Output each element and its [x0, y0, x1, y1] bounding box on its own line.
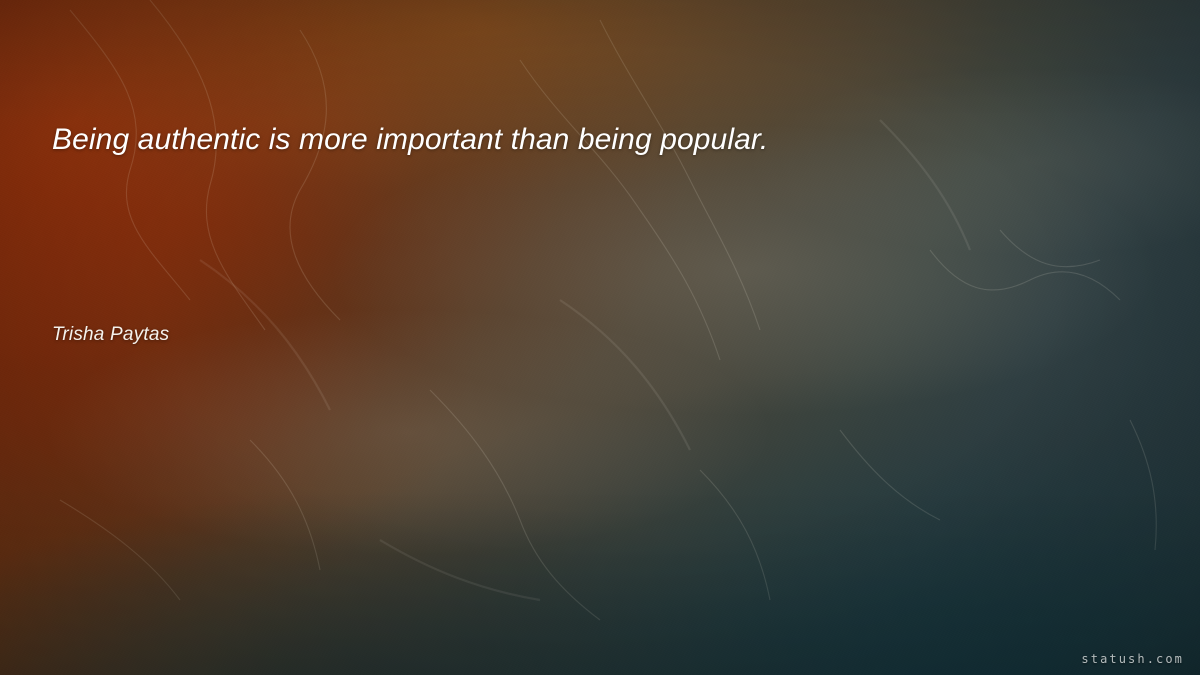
quote-text: Being authentic is more important than b…: [52, 120, 1092, 160]
poster-content: Being authentic is more important than b…: [0, 0, 1200, 675]
quote-author: Trisha Paytas: [52, 322, 169, 348]
quote-poster: Being authentic is more important than b…: [0, 0, 1200, 675]
site-watermark: statush.com: [1081, 652, 1184, 666]
